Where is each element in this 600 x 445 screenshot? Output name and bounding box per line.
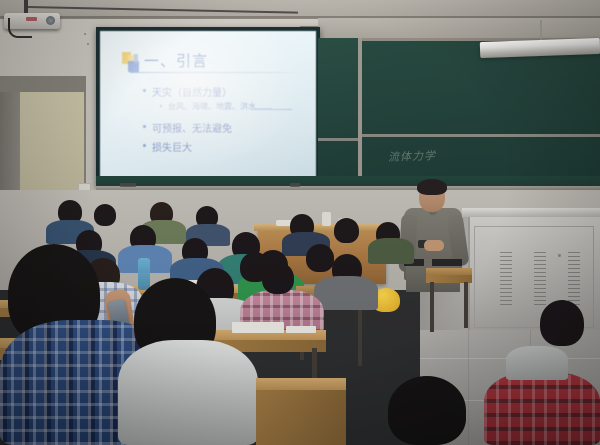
student-head [334, 218, 359, 243]
slide-bullet-3: 可预报、无法避免 [152, 120, 232, 135]
teacher-belt-buckle [424, 259, 432, 266]
slide-title: 一、引言 [144, 50, 208, 71]
lectern-cup [322, 212, 331, 226]
cabinet-vent-right [568, 252, 580, 308]
student-shoulders [368, 238, 414, 264]
student-shoulders [506, 346, 568, 380]
blackboard-divider-left [318, 138, 358, 141]
projector-cables [8, 18, 32, 38]
student-head [262, 262, 294, 294]
teacher-hand [424, 240, 444, 251]
tray-eraser [120, 183, 136, 187]
chalk-writing: 流体力学 [388, 147, 437, 165]
cabinet-vent-left [500, 252, 512, 308]
slide-decoration-icon [122, 52, 142, 73]
projection-screen: 一、引言 天灾（自然力量） 台风、海啸、地震、洪水…… 可预报、无法避免 损失巨… [100, 31, 316, 181]
student-shoulders [314, 276, 378, 310]
slide-sub-underline [250, 109, 292, 110]
desk-leg [430, 282, 434, 332]
student-head [540, 300, 584, 346]
student-desk-side [256, 390, 346, 445]
notebook [232, 322, 284, 333]
slide-title-rule [130, 72, 302, 73]
slide-bullet-2: 台风、海啸、地震、洪水…… [168, 101, 272, 112]
tray-chalk [290, 183, 300, 187]
loose-paper [286, 326, 316, 333]
projection-screen-frame: 一、引言 天灾（自然力量） 台风、海啸、地震、洪水…… 可预报、无法避免 损失巨… [96, 27, 320, 187]
slide-bullet-4: 损失巨大 [152, 139, 192, 154]
blackboard-side-panel [318, 38, 362, 188]
projector-lens-icon [46, 16, 55, 25]
lamp-suspension-rod [540, 20, 542, 42]
cabinet-top-rail [462, 208, 600, 217]
blackboard-divider [358, 134, 600, 137]
cabinet-vent-middle [534, 252, 546, 308]
student-head [306, 244, 334, 272]
student-shoulders [484, 372, 600, 445]
slide-bullet-1: 天灾（自然力量） [152, 84, 232, 99]
classroom-photo: 一、引言 天灾（自然力量） 台风、海啸、地震、洪水…… 可预报、无法避免 损失巨… [0, 0, 600, 445]
desk-leg [464, 282, 468, 328]
student-head-foreground [388, 376, 466, 445]
board-soffit [318, 18, 600, 40]
cabinet-knob[interactable] [558, 254, 561, 257]
student-shoulders-foreground [118, 340, 258, 445]
water-bottle [138, 258, 150, 290]
student-head [94, 204, 116, 226]
teacher-hair [417, 179, 447, 195]
